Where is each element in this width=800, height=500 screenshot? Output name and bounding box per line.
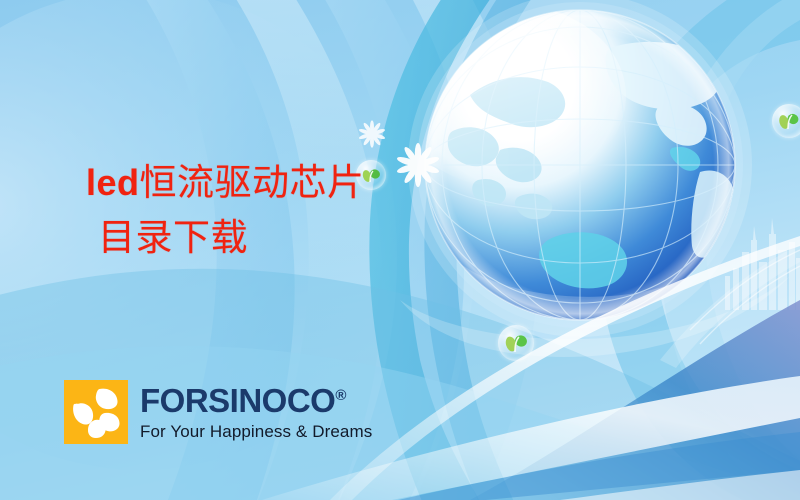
white-daisy-2 — [358, 120, 385, 147]
eco-bubble-2 — [498, 325, 534, 361]
white-daisy-1 — [396, 143, 440, 187]
headline-latin: led — [86, 162, 140, 203]
green-sprout-icon — [498, 325, 534, 361]
headline-line-1: led恒流驱动芯片 — [86, 160, 365, 206]
headline-line-2: 目录下载 — [98, 215, 365, 261]
headline-cjk: 恒流驱动芯片 — [140, 161, 365, 204]
headline-block: led恒流驱动芯片 目录下载 — [86, 160, 365, 262]
eco-bubble-3 — [772, 104, 800, 138]
flower-pinwheel-mark — [64, 380, 128, 444]
green-sprout-icon — [772, 104, 800, 138]
logo-text-block: FORSINOCO® For Your Happiness & Dreams — [140, 384, 372, 440]
forsinoco-logo: FORSINOCO® For Your Happiness & Dreams — [64, 380, 372, 444]
registered-trademark-icon: ® — [335, 387, 346, 404]
flower-pinwheel-icon — [64, 380, 128, 444]
logo-wordmark-text: FORSINOCO — [140, 382, 335, 419]
logo-tagline: For Your Happiness & Dreams — [140, 423, 372, 440]
promo-banner: led恒流驱动芯片 目录下载 FORSINOCO® For Your Happ — [0, 0, 800, 500]
logo-wordmark: FORSINOCO® — [140, 384, 372, 417]
